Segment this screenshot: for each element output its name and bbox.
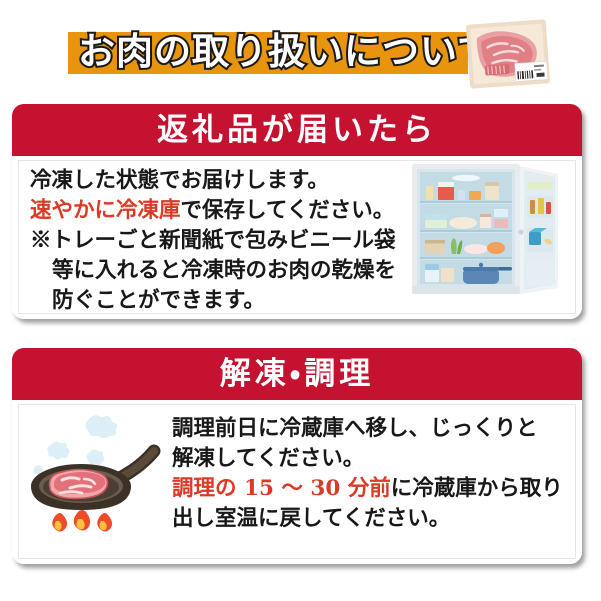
- open-refrigerator-icon: [408, 160, 568, 300]
- thaw-instructions: 調理前日に冷蔵庫へ移し、じっくりと 解凍してください。 調理の 15 〜 30 …: [172, 414, 563, 534]
- highlight-time-before-cooking: 調理の 15 〜 30 分前: [172, 476, 391, 501]
- card-thaw-heading: 解凍・調理: [220, 359, 375, 390]
- thaw-line-3: 調理の 15 〜 30 分前に冷蔵庫から取り: [172, 474, 563, 504]
- card-delivery-heading: 返礼品が届いたら: [157, 115, 437, 146]
- meat-handling-infographic: お肉の取り扱いについて: [0, 0, 601, 601]
- delivery-instructions: 冷凍した状態でお届けします。 速やかに冷凍庫で保存してください。 ※トレーごと新…: [30, 166, 396, 316]
- page-header: お肉の取り扱いについて: [0, 0, 601, 100]
- delivery-line-4: 等に入れると冷凍時のお肉の乾燥を: [30, 256, 396, 286]
- thaw-line-1: 調理前日に冷蔵庫へ移し、じっくりと: [172, 414, 563, 444]
- card-delivery: 返礼品が届いたら 冷凍した状態でお届けします。 速やかに冷凍庫で保存してください…: [12, 104, 582, 319]
- thaw-line-4: 出し室温に戻してください。: [172, 504, 563, 534]
- delivery-line-2: 速やかに冷凍庫で保存してください。: [30, 196, 396, 226]
- delivery-line-3: ※トレーごと新聞紙で包みビニール袋: [30, 226, 396, 256]
- thaw-line-2: 解凍してください。: [172, 444, 563, 474]
- delivery-line-5: 防ぐことができます。: [30, 286, 396, 316]
- page-title: お肉の取り扱いについて: [78, 18, 470, 86]
- highlight-freezer: 速やかに冷凍庫: [30, 198, 181, 223]
- card-thaw: 解凍・調理: [12, 348, 582, 564]
- card-delivery-header: 返礼品が届いたら: [12, 104, 582, 156]
- delivery-line-1: 冷凍した状態でお届けします。: [30, 166, 396, 196]
- packaged-beef-tray-icon: [462, 16, 554, 92]
- card-thaw-header: 解凍・調理: [12, 348, 582, 400]
- card-delivery-body: 冷凍した状態でお届けします。 速やかに冷凍庫で保存してください。 ※トレーごと新…: [12, 156, 582, 319]
- card-thaw-body: 調理前日に冷蔵庫へ移し、じっくりと 解凍してください。 調理の 15 〜 30 …: [12, 400, 582, 564]
- frying-pan-with-meat-icon: [26, 408, 171, 548]
